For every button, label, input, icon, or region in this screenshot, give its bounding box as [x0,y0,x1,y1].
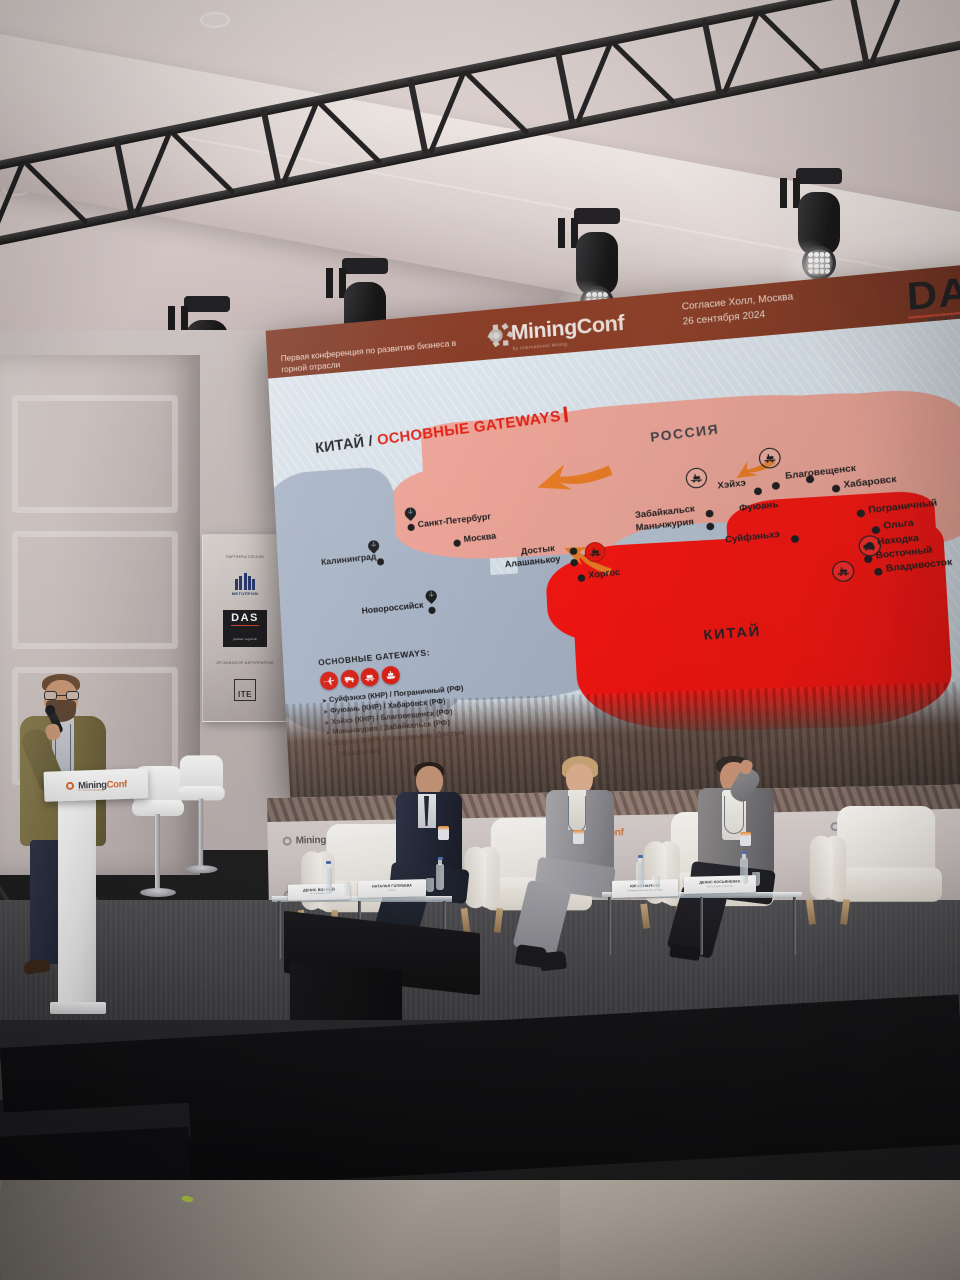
podium-front-panel: MiningConf [44,768,149,802]
logo-main: Mining [510,316,577,345]
train-icon [762,451,778,466]
confidence-monitor [262,922,480,1034]
das-partner-logo: DAS global logistik [906,271,960,326]
podium-logo-subtitle: by International Mining [78,789,104,792]
port-pin-icon: ⚓ [404,507,416,522]
ite-label: ITE [238,691,252,699]
plane-icon [319,671,339,691]
das-partner-label: DAS [906,271,960,316]
water-bottle [436,864,444,890]
metoprom-label: МЕТОПРОМ [232,591,259,596]
das-logo-icon: DAS global logistik [223,610,267,647]
conference-stage-photo: Партнёры сессии МЕТОПРОМ DAS global logi… [0,0,960,1280]
sponsor-caption-top: Партнёры сессии [226,555,264,560]
slide-title-black: КИТАЙ / [314,433,373,457]
led-presentation-screen: Первая конференция по развитию бизнеса в… [266,260,960,800]
logo-accent: Conf [106,778,127,790]
logo-main: Mining [296,835,327,847]
water-bottle [636,862,644,888]
logo-accent: Conf [576,312,625,339]
das-label: DAS [231,613,259,624]
eyeglasses-icon [44,691,79,700]
nameplate: НАТАЛЬЯ ГОЛУБЕВА РУСАЛ [358,879,426,898]
train-icon [689,471,704,486]
sponsor-caption-bottom: Организатор мероприятия [216,661,273,666]
gear-icon [65,781,75,791]
ship-icon [380,665,400,685]
sponsor-banner: Партнёры сессии МЕТОПРОМ DAS global logi… [202,534,288,722]
nameplate-org: РУСАЛ [388,889,396,891]
metoprom-bars-icon [235,573,255,590]
panelist-grey-blazer [694,756,816,972]
venue-date-block: Согласие Холл, Москва 26 сентября 2024 [682,290,795,329]
nameplate: ДЕНИС ВОЗНЫЙ ГК «СОВФРАХТ» [288,883,350,901]
drinking-glass [426,878,434,892]
train-icon [588,545,603,559]
train-icon [360,667,380,687]
das-tagline: global logistik [233,637,257,641]
podium: MiningConf by International Mining [44,770,106,1010]
gear-icon [282,836,293,847]
gear-icon [485,325,506,346]
drinking-glass [752,872,760,886]
ite-logo-icon: ITE [234,679,256,701]
nameplate: ЮРИЙ НАУМОВ ПРОМЫШЛЕННАЯ ЛОГИСТИКА [612,879,678,898]
water-bottle [740,858,748,884]
gateway-map: КИТАЙ / ОСНОВНЫЕ GATEWAYS РОССИЯ КИТАЙ [268,313,960,800]
ceiling-vent-icon [200,12,230,28]
train-icon [835,564,851,579]
truck-icon [339,669,359,689]
port-pin-icon: ⚓ [425,590,437,605]
floor-shadow [0,1180,560,1280]
nameplate-org: DAS GLOBAL LOGISTIK [707,885,733,888]
drinking-glass [652,876,660,890]
drinking-glass [342,882,350,896]
metoprom-logo: МЕТОПРОМ [232,573,259,596]
water-bottle [324,868,332,894]
